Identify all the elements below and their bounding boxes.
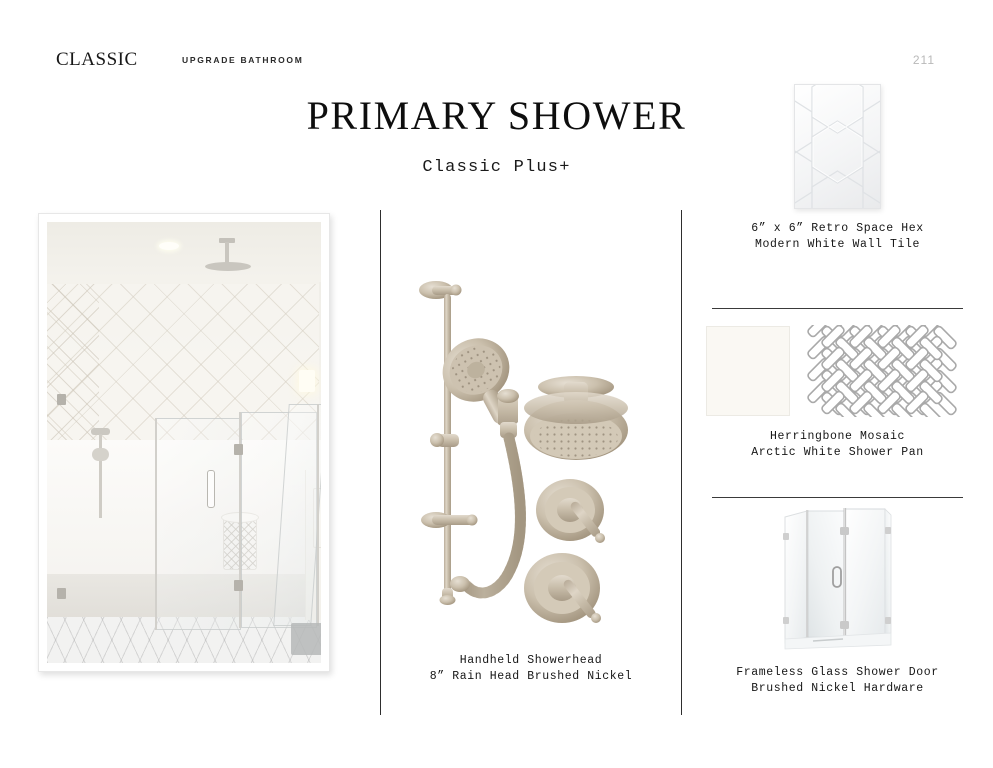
hex-tile-pattern-icon	[795, 85, 880, 208]
shower-fixture-caption-line2: 8” Rain Head Brushed Nickel	[382, 669, 680, 685]
photo-wall-sconce	[299, 370, 315, 392]
right-item-hex-wall-tile: 6” x 6” Retro Space Hex Modern White Wal…	[700, 84, 975, 253]
mosaic-and-pan-caption-line1: Herringbone Mosaic	[700, 429, 975, 445]
shower-room-photo	[47, 222, 321, 663]
right-item-shower-door: Frameless Glass Shower Door Brushed Nick…	[700, 505, 975, 697]
photo-glass-clip-3	[234, 444, 243, 455]
shower-room-photo-frame	[38, 213, 330, 672]
shower-fixture-caption-line1: Handheld Showerhead	[382, 653, 680, 669]
hex-wall-tile-caption-line1: 6” x 6” Retro Space Hex	[700, 221, 975, 237]
shower-door-caption: Frameless Glass Shower Door Brushed Nick…	[700, 665, 975, 697]
mosaic-and-pan-caption-line2: Arctic White Shower Pan	[700, 445, 975, 461]
section-label: UPGRADE BATHROOM	[182, 54, 303, 66]
photo-glass-clip-2	[57, 588, 66, 599]
hex-wall-tile-caption: 6” x 6” Retro Space Hex Modern White Wal…	[700, 221, 975, 253]
photo-glass-clip-1	[57, 394, 66, 405]
shower-fixture-illustration	[404, 270, 656, 632]
photo-handheld-showerhead	[92, 448, 109, 461]
photo-glass-mullion-1	[155, 418, 157, 630]
shower-door-caption-line1: Frameless Glass Shower Door	[700, 665, 975, 681]
photo-glass-mullion-3	[317, 404, 319, 626]
arctic-white-shower-pan-swatch	[706, 326, 790, 416]
right-item-mosaic-and-pan: Herringbone Mosaic Arctic White Shower P…	[700, 325, 975, 461]
shower-door-caption-line2: Brushed Nickel Hardware	[700, 681, 975, 697]
divider-horizontal-lower	[712, 497, 963, 498]
frameless-shower-door-illustration	[779, 505, 896, 653]
mosaic-and-pan-caption: Herringbone Mosaic Arctic White Shower P…	[700, 429, 975, 461]
hex-wall-tile-swatch	[794, 84, 881, 209]
divider-vertical-left	[380, 210, 381, 715]
photo-handheld-slide-bar	[99, 434, 102, 518]
shower-fixture-caption: Handheld Showerhead 8” Rain Head Brushed…	[382, 653, 680, 685]
mosaic-and-pan-swatch-row	[700, 325, 975, 417]
shower-fixture-set-image	[404, 270, 656, 632]
brand-wordmark: CLASSIC	[56, 48, 138, 72]
page-number: 211	[913, 52, 935, 68]
photo-shower-door-handle	[207, 470, 215, 508]
herringbone-pattern-icon	[804, 325, 969, 417]
photo-recessed-light	[159, 242, 179, 250]
photo-glass-clip-4	[234, 580, 243, 591]
divider-horizontal-upper	[712, 308, 963, 309]
photo-rain-showerhead	[205, 262, 251, 271]
page-header: CLASSIC UPGRADE BATHROOM 211	[0, 48, 993, 74]
herringbone-mosaic-swatch	[804, 325, 969, 417]
divider-vertical-right	[681, 210, 682, 715]
photo-bath-rug	[291, 623, 321, 655]
hex-wall-tile-caption-line2: Modern White Wall Tile	[700, 237, 975, 253]
photo-glass-panel-a	[155, 418, 241, 630]
frameless-shower-door-image	[779, 505, 896, 653]
